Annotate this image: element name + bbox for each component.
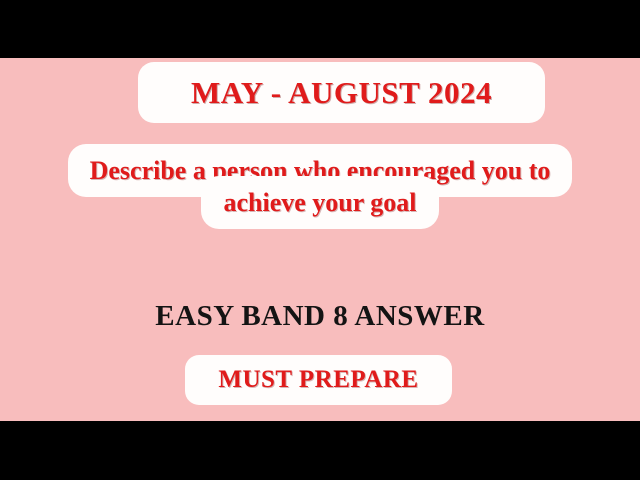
title-text: MAY - AUGUST 2024: [191, 75, 492, 111]
cta-text: MUST PREPARE: [218, 366, 418, 394]
cta-card: MUST PREPARE: [185, 355, 452, 405]
title-card: MAY - AUGUST 2024: [138, 62, 545, 123]
prompt-block: Describe a person who encouraged you to …: [0, 158, 640, 216]
slide-stage: MAY - AUGUST 2024 Describe a person who …: [0, 58, 640, 421]
subtitle-text: EASY BAND 8 ANSWER: [0, 300, 640, 333]
slide-canvas: MAY - AUGUST 2024 Describe a person who …: [0, 0, 640, 480]
prompt-line-2-text: achieve your goal: [201, 176, 438, 229]
letterbox-bar-bottom: [0, 421, 640, 480]
letterbox-bar-top: [0, 0, 640, 58]
